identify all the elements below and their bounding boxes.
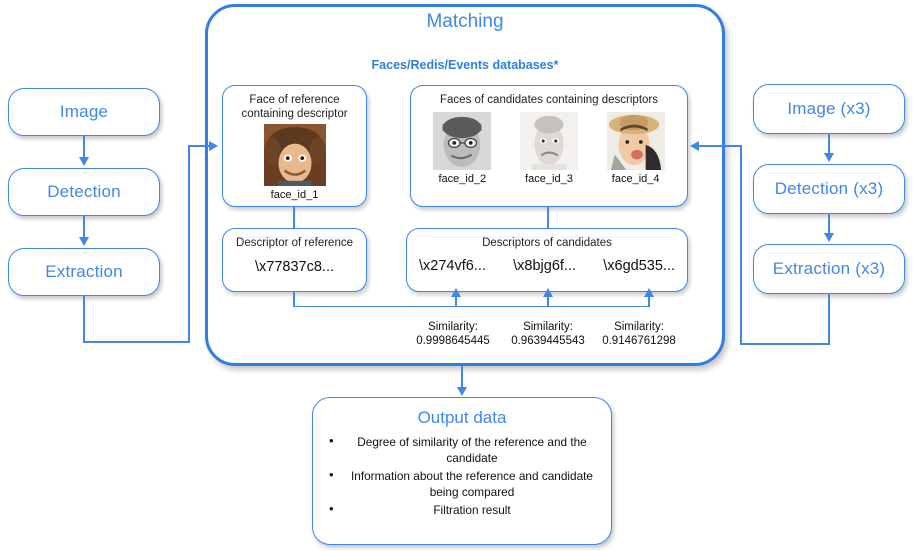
connector-reference-face-to-descriptor [293,207,295,228]
connector-extraction-x3-up [740,145,742,343]
similarity-title-3: Similarity: [614,321,664,333]
output-bullet-1: Degree of similarity of the reference an… [347,434,597,466]
connector-detection-to-extraction [83,216,85,239]
reference-descriptor-box[interactable]: Descriptor of reference \x77837c8... [222,228,367,292]
candidate-face-label-2: face_id_3 [525,173,573,185]
candidate-face-label-3: face_id_4 [612,173,660,185]
connector-image-x3-to-detection-x3 [828,134,830,155]
similarity-title-2: Similarity: [523,321,573,333]
candidate-face-thumbnail-1-icon [433,112,491,170]
connector-extraction-right [83,341,190,343]
candidate-descriptors-row: \x274vf6... \x8bjg6f... \x6gd535... [407,250,687,274]
arrow-detection-to-extraction [79,237,89,246]
reference-face-title-line2: containing descriptor [241,108,347,120]
connector-into-candidate-faces [699,145,741,147]
stage-box-detection-x3[interactable]: Detection (x3) [753,164,905,214]
arrow-image-x3-to-detection-x3 [824,153,834,162]
stage-box-extraction-x3[interactable]: Extraction (x3) [753,244,905,294]
candidate-descriptors-box[interactable]: Descriptors of candidates \x274vf6... \x… [406,228,688,292]
arrow-into-reference-face [209,141,218,151]
matching-subtitle: Faces/Redis/Events databases* [205,58,725,72]
similarity-value-1: 0.9998645445 [416,335,490,347]
stage-box-image[interactable]: Image [8,88,160,136]
candidate-face-cell-2[interactable]: face_id_3 [520,112,578,185]
reference-face-cell: face_id_1 [223,121,366,201]
connector-extraction-x3-left [740,343,830,345]
stage-box-detection-x3-label: Detection (x3) [775,179,884,199]
connector-extraction-down [83,296,85,342]
reference-descriptor-title: Descriptor of reference [223,229,366,250]
similarity-value-3: 0.9146761298 [602,335,676,347]
diagram-canvas: Matching Faces/Redis/Events databases* I… [0,0,921,551]
arrow-into-candidate-faces [690,141,699,151]
reference-face-title-line1: Face of reference [249,94,339,106]
stage-box-detection[interactable]: Detection [8,168,160,216]
output-data-list: Degree of similarity of the reference an… [313,434,611,518]
candidate-face-label-1: face_id_2 [438,173,486,185]
stage-box-extraction-label: Extraction [45,262,123,282]
candidate-face-thumbnail-3-icon [607,112,665,170]
arrow-into-candidate-descriptor-2 [543,288,553,297]
output-data-title: Output data [313,398,611,428]
reference-face-thumbnail-icon [264,124,326,186]
connector-bus-branch-2 [547,296,549,306]
stage-box-detection-label: Detection [47,182,121,202]
candidate-face-cell-1[interactable]: face_id_2 [433,112,491,185]
connector-extraction-x3-down [828,294,830,344]
candidate-descriptor-value-2: \x8bjg6f... [513,258,576,274]
stage-box-extraction-x3-label: Extraction (x3) [773,259,886,279]
stage-box-extraction[interactable]: Extraction [8,248,160,296]
candidate-faces-title: Faces of candidates containing descripto… [411,86,687,107]
connector-candidate-faces-to-descriptors [547,207,549,228]
candidate-face-cell-3[interactable]: face_id_4 [607,112,665,185]
similarity-label-3: Similarity: 0.9146761298 [584,320,694,348]
connector-extraction-up [188,145,190,342]
arrow-matching-to-output [457,387,467,396]
candidate-face-thumbnail-2-icon [520,112,578,170]
connector-into-reference-face [188,145,211,147]
output-bullet-2: Information about the reference and cand… [347,468,597,500]
candidate-faces-box[interactable]: Faces of candidates containing descripto… [410,85,688,207]
reference-face-box[interactable]: Face of reference containing descriptor … [222,85,367,207]
similarity-title-1: Similarity: [428,321,478,333]
similarity-label-1: Similarity: 0.9998645445 [398,320,508,348]
connector-matching-to-output [461,366,463,389]
reference-face-label: face_id_1 [271,189,319,201]
stage-box-image-x3-label: Image (x3) [787,99,870,119]
arrow-into-candidate-descriptor-1 [451,288,461,297]
connector-bus-branch-3 [648,296,650,306]
arrow-image-to-detection [79,157,89,166]
similarity-value-2: 0.9639445543 [511,335,585,347]
arrow-detection-x3-to-extraction-x3 [824,233,834,242]
connector-detection-x3-to-extraction-x3 [828,214,830,235]
output-bullet-3: Filtration result [347,502,597,518]
connector-bus-branch-1 [455,296,457,306]
output-data-box[interactable]: Output data Degree of similarity of the … [312,397,612,545]
connector-image-to-detection [83,136,85,159]
candidate-descriptors-title: Descriptors of candidates [407,229,687,250]
matching-title: Matching [205,11,725,33]
candidate-descriptor-value-3: \x6gd535... [603,258,675,274]
reference-face-title: Face of reference containing descriptor [223,86,366,121]
candidate-descriptor-value-1: \x274vf6... [419,258,486,274]
candidate-faces-row: face_id_2 face_id_3 [411,107,687,185]
reference-descriptor-value: \x77837c8... [223,259,366,275]
arrow-into-candidate-descriptor-3 [644,288,654,297]
connector-comparison-bus [293,306,650,308]
stage-box-image-x3[interactable]: Image (x3) [753,84,905,134]
stage-box-image-label: Image [60,102,108,122]
